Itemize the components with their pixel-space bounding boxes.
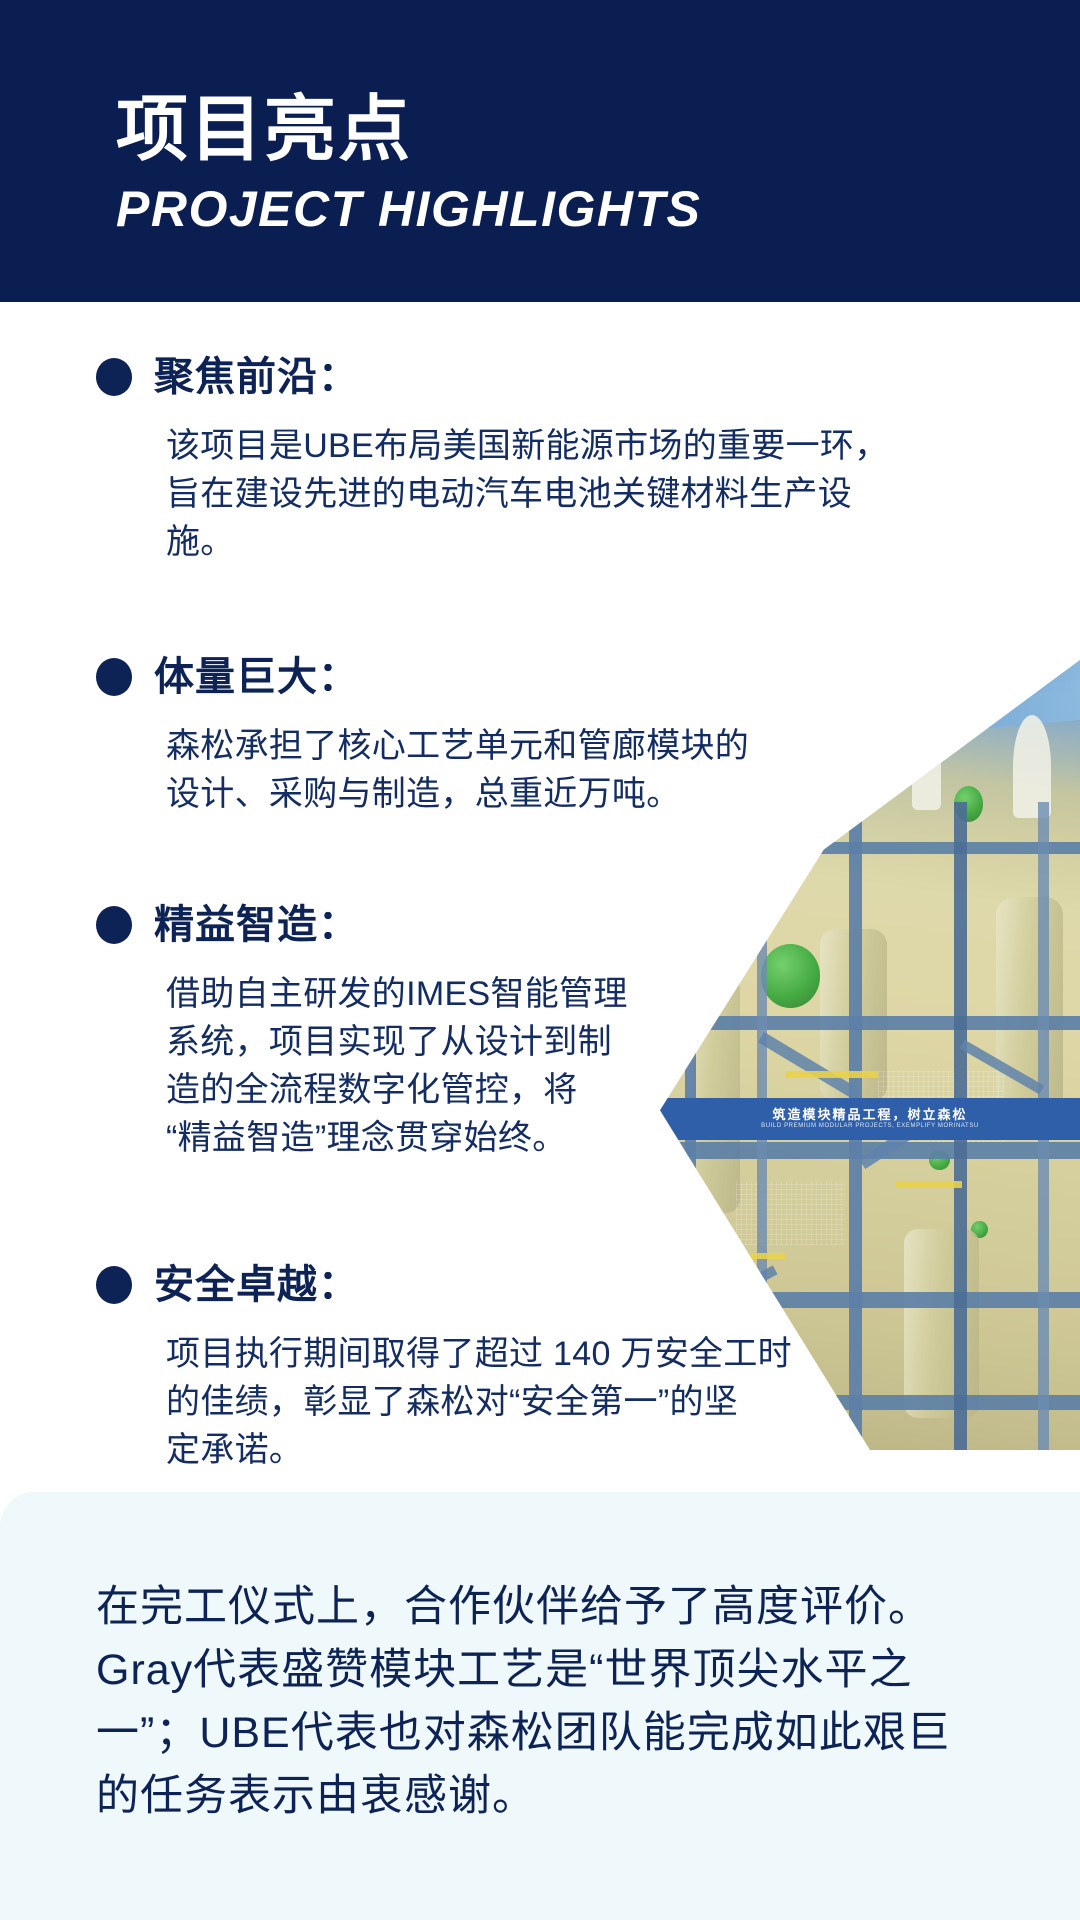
page-header: 项目亮点 PROJECT HIGHLIGHTS (0, 0, 1080, 302)
highlight-header-2: 体量巨大： (96, 654, 749, 700)
highlight-body-1: 该项目是UBE布局美国新能源市场的重要一环， 旨在建设先进的电动汽车电池关键材料… (166, 422, 889, 566)
poster-page: 项目亮点 PROJECT HIGHLIGHTS (0, 0, 1080, 1920)
highlight-item-2: 体量巨大： 森松承担了核心工艺单元和管廊模块的 设计、采购与制造，总重近万吨。 (96, 654, 749, 818)
closing-panel: 在完工仪式上，合作伙伴给予了高度评价。 Gray代表盛赞模块工艺是“世界顶尖水平… (0, 1492, 1080, 1920)
highlight-body-3: 借助自主研发的IMES智能管理 系统，项目实现了从设计到制 造的全流程数字化管控… (166, 970, 628, 1162)
bullet-dot-icon (96, 906, 132, 944)
bullet-dot-icon (96, 358, 132, 396)
bullet-dot-icon (96, 658, 132, 696)
highlight-title-1: 聚焦前沿： (154, 354, 359, 400)
photo-yellow-rail-3 (710, 1253, 786, 1259)
header-text-group: 项目亮点 PROJECT HIGHLIGHTS (116, 88, 701, 238)
highlight-title-3: 精益智造： (154, 902, 359, 948)
highlight-item-3: 精益智造： 借助自主研发的IMES智能管理 系统，项目实现了从设计到制 造的全流… (96, 902, 628, 1162)
photo-hbeam-1 (660, 842, 1080, 855)
photo-green-tank-mid (761, 944, 820, 1007)
photo-hbeam-2 (660, 1016, 1080, 1030)
photo-slogan-chinese: 筑造模块精品工程，树立森松 (772, 1108, 967, 1122)
photo-yellow-rail-2 (895, 1181, 962, 1187)
page-title-english: PROJECT HIGHLIGHTS (116, 180, 701, 238)
photo-slogan-banner: 筑造模块精品工程，树立森松 BUILD PREMIUM MODULAR PROJ… (660, 1098, 1080, 1139)
page-title-chinese: 项目亮点 (116, 88, 701, 172)
highlight-body-4: 项目执行期间取得了超过 140 万安全工时 的佳绩，彰显了森松对“安全第一”的坚… (166, 1330, 792, 1474)
highlight-item-1: 聚焦前沿： 该项目是UBE布局美国新能源市场的重要一环， 旨在建设先进的电动汽车… (96, 354, 889, 566)
bullet-dot-icon (96, 1266, 132, 1304)
photo-green-tank-small (702, 897, 719, 916)
highlight-body-2: 森松承担了核心工艺单元和管廊模块的 设计、采购与制造，总重近万吨。 (166, 722, 749, 818)
highlight-title-2: 体量巨大： (154, 654, 359, 700)
highlight-header-3: 精益智造： (96, 902, 628, 948)
highlight-header-1: 聚焦前沿： (96, 354, 889, 400)
photo-mesh-panel-b (736, 1181, 845, 1244)
photo-vessel-lower (904, 1229, 980, 1419)
closing-paragraph: 在完工仪式上，合作伙伴给予了高度评价。 Gray代表盛赞模块工艺是“世界顶尖水平… (96, 1576, 1024, 1828)
photo-yellow-rail-1 (786, 1071, 878, 1078)
highlight-title-4: 安全卓越： (154, 1262, 359, 1308)
photo-slogan-english: BUILD PREMIUM MODULAR PROJECTS, EXEMPLIF… (761, 1122, 979, 1130)
photo-pipe-a (912, 723, 941, 810)
highlight-header-4: 安全卓越： (96, 1262, 792, 1308)
highlight-item-4: 安全卓越： 项目执行期间取得了超过 140 万安全工时 的佳绩，彰显了森松对“安… (96, 1262, 792, 1474)
